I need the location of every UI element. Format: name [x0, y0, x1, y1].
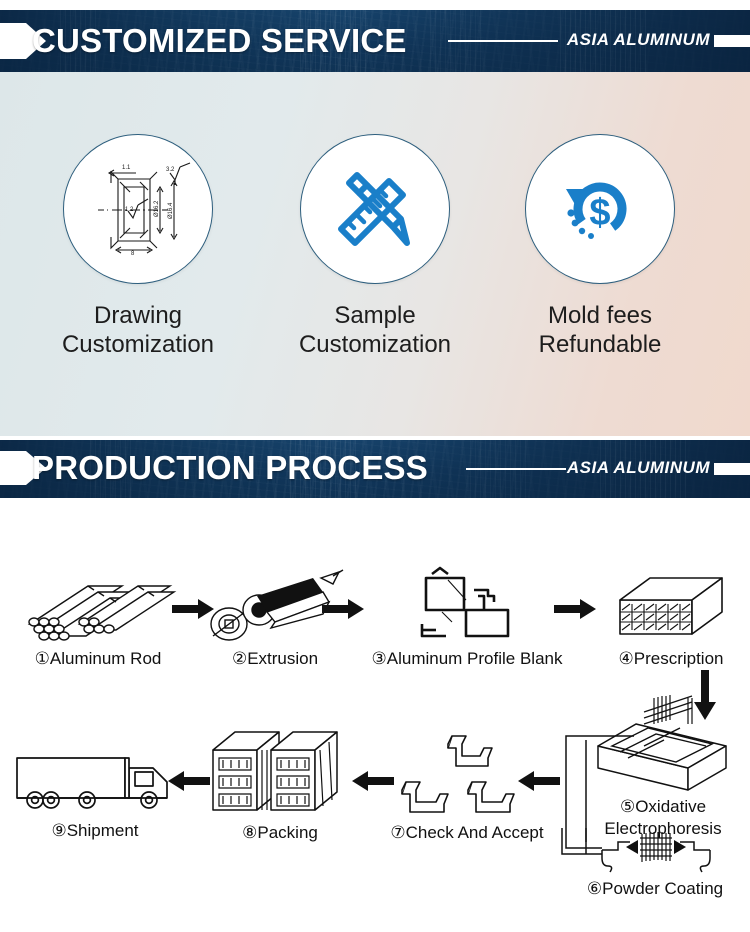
- svg-text:$: $: [589, 192, 610, 234]
- banner-divider-rule: [466, 468, 566, 470]
- service-item-sample-customization[interactable]: Sample Customization: [265, 134, 485, 359]
- svg-text:1.1: 1.1: [122, 165, 131, 171]
- process-step-caption: ②Extrusion: [200, 648, 350, 669]
- prescription-block-icon: [596, 566, 746, 646]
- step-label: Packing: [257, 823, 317, 842]
- step-number: ③: [372, 649, 387, 668]
- profile-check-icon: [372, 734, 562, 820]
- process-connector-line: [556, 734, 636, 864]
- process-step-aluminum-rod[interactable]: ①Aluminum Rod: [8, 566, 188, 669]
- service-item-label-line2: Customization: [265, 330, 485, 359]
- banner-title-customized-service: CUSTOMIZED SERVICE: [32, 16, 407, 66]
- svg-text:Ø16.4: Ø16.4: [168, 202, 174, 219]
- process-step-caption: ①Aluminum Rod: [8, 648, 188, 669]
- step-number: ⑨: [51, 821, 66, 840]
- service-item-label: Sample Customization: [265, 301, 485, 359]
- process-step-aluminum-profile-blank[interactable]: ③Aluminum Profile Blank: [362, 566, 572, 669]
- customized-service-panel: 1.1 3.2 1.2 8 Ø16.2 Ø16.4 Drawing Custom…: [0, 72, 750, 436]
- service-item-label: Drawing Customization: [28, 301, 248, 359]
- banner-title-production-process: PRODUCTION PROCESS: [32, 443, 428, 493]
- process-step-caption: ⑥Powder Coating: [560, 878, 750, 899]
- service-item-drawing-customization[interactable]: 1.1 3.2 1.2 8 Ø16.2 Ø16.4 Drawing Custom…: [28, 134, 248, 359]
- aluminum-rod-bundle-icon: [8, 566, 188, 646]
- service-item-label-line2: Customization: [28, 330, 248, 359]
- step-number: ①: [35, 649, 50, 668]
- banner-divider-rule: [448, 40, 558, 42]
- dollar-sign-icon: $: [589, 192, 610, 234]
- money-refund-icon-glyph: $: [552, 161, 648, 257]
- banner-customized-service: CUSTOMIZED SERVICE ASIA ALUMINUM: [0, 10, 750, 72]
- process-step-caption: ④Prescription: [596, 648, 746, 669]
- process-step-packing[interactable]: ⑧Packing: [200, 726, 360, 843]
- step-label: Aluminum Rod: [50, 649, 162, 668]
- process-step-caption: ⑨Shipment: [10, 820, 180, 841]
- service-item-label-line1: Mold fees: [490, 301, 710, 330]
- step-label: Extrusion: [247, 649, 318, 668]
- banner-endcap-marker: [714, 35, 750, 47]
- step-number: ⑦: [390, 823, 405, 842]
- truck-icon: [10, 744, 180, 818]
- ruler-pencil-icon: [300, 134, 450, 284]
- service-item-label-line1: Drawing: [28, 301, 248, 330]
- pencil-tip-icon: [393, 219, 407, 243]
- banner-brand-label: ASIA ALUMINUM: [567, 30, 710, 50]
- service-item-row: 1.1 3.2 1.2 8 Ø16.2 Ø16.4 Drawing Custom…: [0, 72, 750, 436]
- step-number: ⑥: [587, 879, 602, 898]
- svg-text:1.2: 1.2: [125, 207, 134, 213]
- money-refund-icon: $: [525, 134, 675, 284]
- process-step-shipment[interactable]: ⑨Shipment: [10, 744, 180, 841]
- profile-blank-icon: [362, 566, 572, 646]
- process-step-caption: ⑧Packing: [200, 822, 360, 843]
- process-step-caption: ③Aluminum Profile Blank: [362, 648, 572, 669]
- service-item-mold-fees-refundable[interactable]: $ Mold fees Refundable: [490, 134, 710, 359]
- service-item-label: Mold fees Refundable: [490, 301, 710, 359]
- svg-text:3.2: 3.2: [166, 167, 175, 173]
- step-number: ⑧: [242, 823, 257, 842]
- step-label: Aluminum Profile Blank: [387, 649, 563, 668]
- step-number: ②: [232, 649, 247, 668]
- banner-production-process: PRODUCTION PROCESS ASIA ALUMINUM: [0, 440, 750, 498]
- banner-brand-label: ASIA ALUMINUM: [567, 458, 710, 478]
- flow-arrow-right-icon: [322, 598, 364, 620]
- service-item-label-line2: Refundable: [490, 330, 710, 359]
- step-label: Prescription: [634, 649, 724, 668]
- technical-drawing-icon: 1.1 3.2 1.2 8 Ø16.2 Ø16.4: [63, 134, 213, 284]
- svg-text:Ø16.2: Ø16.2: [154, 200, 160, 217]
- step-label-line1: Oxidative: [635, 797, 706, 816]
- flow-arrow-right-icon: [554, 598, 596, 620]
- service-item-label-line1: Sample: [265, 301, 485, 330]
- step-label: Powder Coating: [602, 879, 723, 898]
- technical-drawing-icon-glyph: 1.1 3.2 1.2 8 Ø16.2 Ø16.4: [78, 149, 198, 269]
- process-step-caption: ⑦Check And Accept: [372, 822, 562, 843]
- production-process-panel: ①Aluminum Rod: [0, 498, 750, 932]
- banner-endcap-marker: [714, 463, 750, 475]
- svg-text:8: 8: [131, 251, 135, 257]
- ruler-pencil-icon-glyph: [327, 161, 423, 257]
- process-step-check-and-accept[interactable]: ⑦Check And Accept: [372, 734, 562, 843]
- step-label: Shipment: [67, 821, 139, 840]
- packing-bundles-icon: [200, 726, 360, 820]
- step-number: ④: [618, 649, 633, 668]
- process-step-prescription[interactable]: ④Prescription: [596, 566, 746, 669]
- step-label: Check And Accept: [406, 823, 544, 842]
